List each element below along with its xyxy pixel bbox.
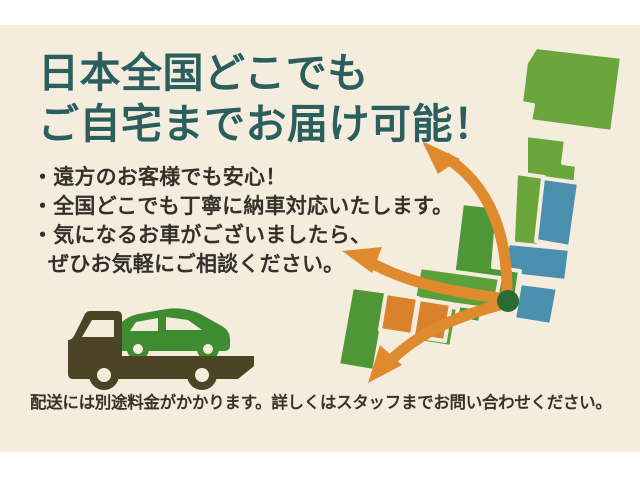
list-item: ・全国どこでも丁寧に納車対応いたします。 [32,192,427,221]
loaded-car-icon [114,308,230,360]
list-item: ・遠方のお客様でも安心！ [32,163,427,192]
headline-line-2: ご自宅までお届け可能！ [38,99,508,150]
map-region-kanto [536,178,579,247]
list-item-continuation: ぜひお気軽にご相談ください。 [32,250,427,279]
disclaimer-text: 配送には別途料金がかかります。詳しくはスタッフまでお問い合わせください。 [30,393,630,413]
car-carrier-truck-icon [62,296,262,392]
map-region-kansai-east [514,283,558,325]
headline-line-1: 日本全国どこでも [38,48,508,99]
delivery-promo-banner: 日本全国どこでも ご自宅までお届け可能！ ・遠方のお客様でも安心！ ・全国どこで… [0,0,640,480]
benefit-list: ・遠方のお客様でも安心！ ・全国どこでも丁寧に納車対応いたします。 ・気になるお… [32,163,427,279]
page-title: 日本全国どこでも ご自宅までお届け可能！ [38,48,508,150]
map-region-hokkaido [521,47,622,132]
delivery-origin-dot [497,290,519,312]
list-item: ・気になるお車がございましたら、 [32,221,427,250]
